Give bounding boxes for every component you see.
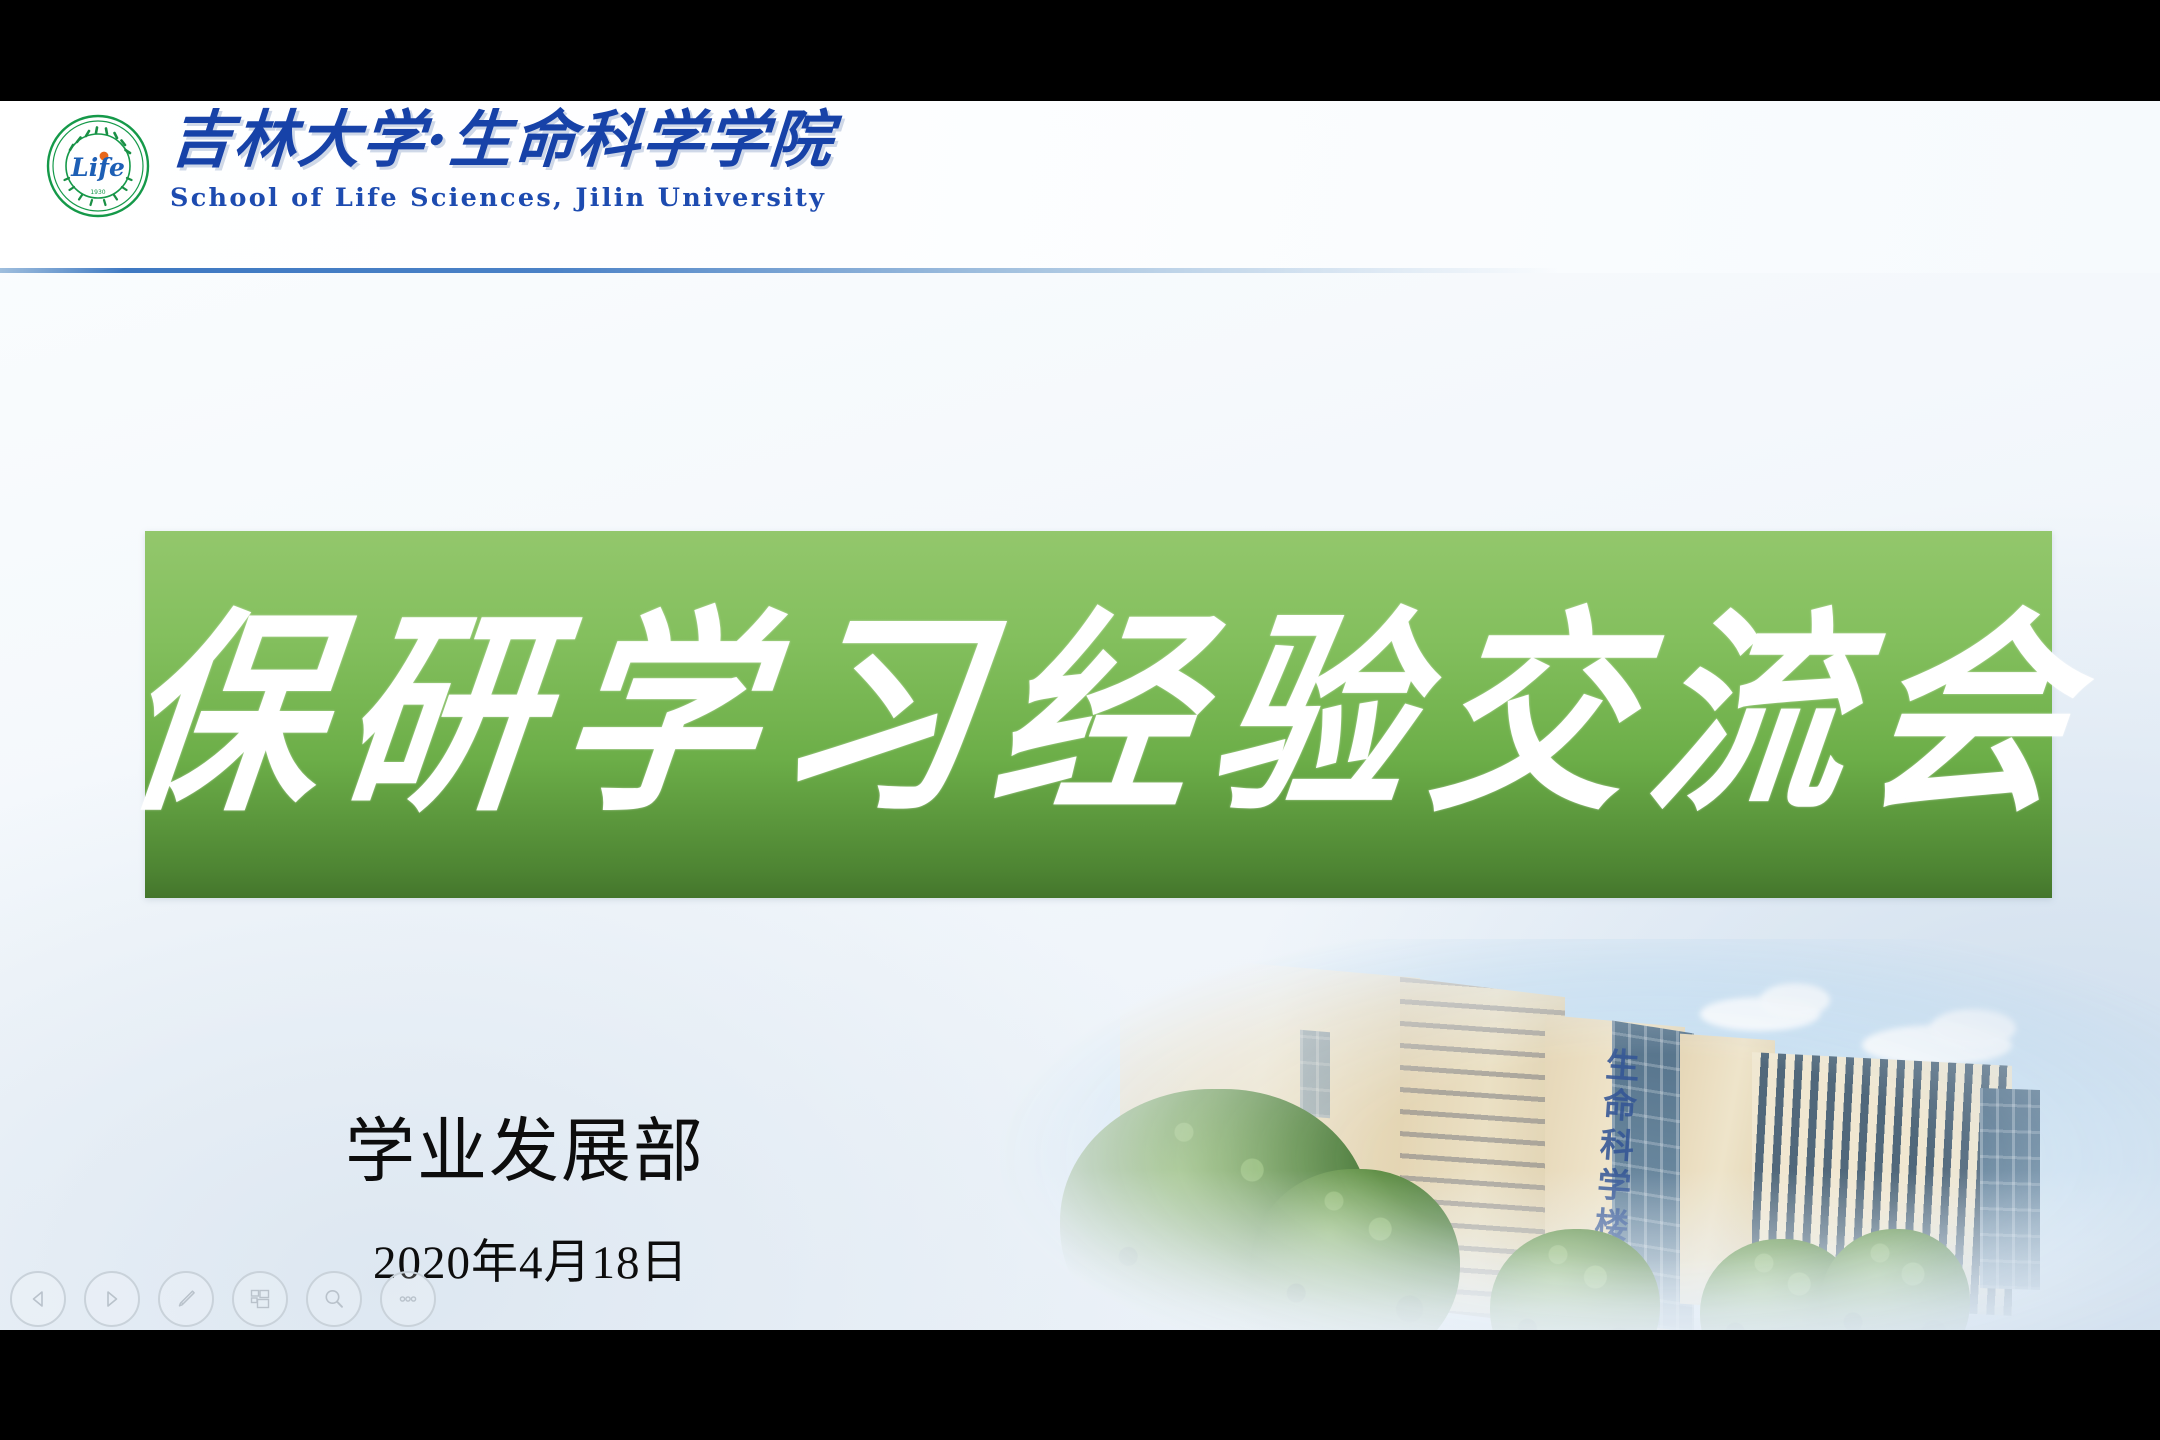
letterbox-bottom-bar xyxy=(0,1330,2160,1440)
slide-header: Life 1930 吉林大学·生命科学学院 School of Life Sci… xyxy=(0,101,2160,273)
pen-tool-button[interactable] xyxy=(158,1271,214,1327)
jilin-university-life-sciences-seal-icon: Life 1930 xyxy=(46,114,150,218)
svg-text:Life: Life xyxy=(70,153,125,182)
triangle-right-icon xyxy=(102,1289,122,1309)
slideshow-toolbar[interactable] xyxy=(10,1271,436,1327)
school-name-chinese: 吉林大学·生命科学学院 xyxy=(168,109,836,171)
slide-overview-button[interactable] xyxy=(232,1271,288,1327)
slide-title: 保研学习经验交流会 xyxy=(96,607,2100,823)
presenter-organization: 学业发展部 xyxy=(345,1095,705,1196)
magnifier-icon xyxy=(322,1287,346,1311)
previous-slide-button[interactable] xyxy=(10,1271,66,1327)
triangle-left-icon xyxy=(28,1289,48,1309)
letterbox-top-bar xyxy=(0,0,2160,101)
svg-text:1930: 1930 xyxy=(90,189,105,196)
pen-icon xyxy=(174,1287,198,1311)
header-rule-highlight xyxy=(0,265,1400,267)
cloud-shape xyxy=(1760,983,1830,1017)
school-name-english: School of Life Sciences, Jilin Universit… xyxy=(170,183,834,213)
slide-canvas[interactable]: Life 1930 吉林大学·生命科学学院 School of Life Sci… xyxy=(0,101,2160,1330)
more-options-button[interactable] xyxy=(380,1271,436,1327)
next-slide-button[interactable] xyxy=(84,1271,140,1327)
presentation-viewer: Life 1930 吉林大学·生命科学学院 School of Life Sci… xyxy=(0,0,2160,1440)
header-divider-rule xyxy=(0,268,1560,273)
slide-title-banner: 保研学习经验交流会 xyxy=(145,531,2052,898)
photo-wing-window xyxy=(1300,1030,1330,1119)
life-sciences-building-photo: 生命科学楼 xyxy=(1000,939,2160,1330)
grid-slides-icon xyxy=(248,1287,272,1311)
photo-corner-glass xyxy=(1980,1088,2040,1290)
zoom-button[interactable] xyxy=(306,1271,362,1327)
cloud-shape xyxy=(1930,1009,2016,1047)
ellipsis-icon xyxy=(395,1286,421,1312)
